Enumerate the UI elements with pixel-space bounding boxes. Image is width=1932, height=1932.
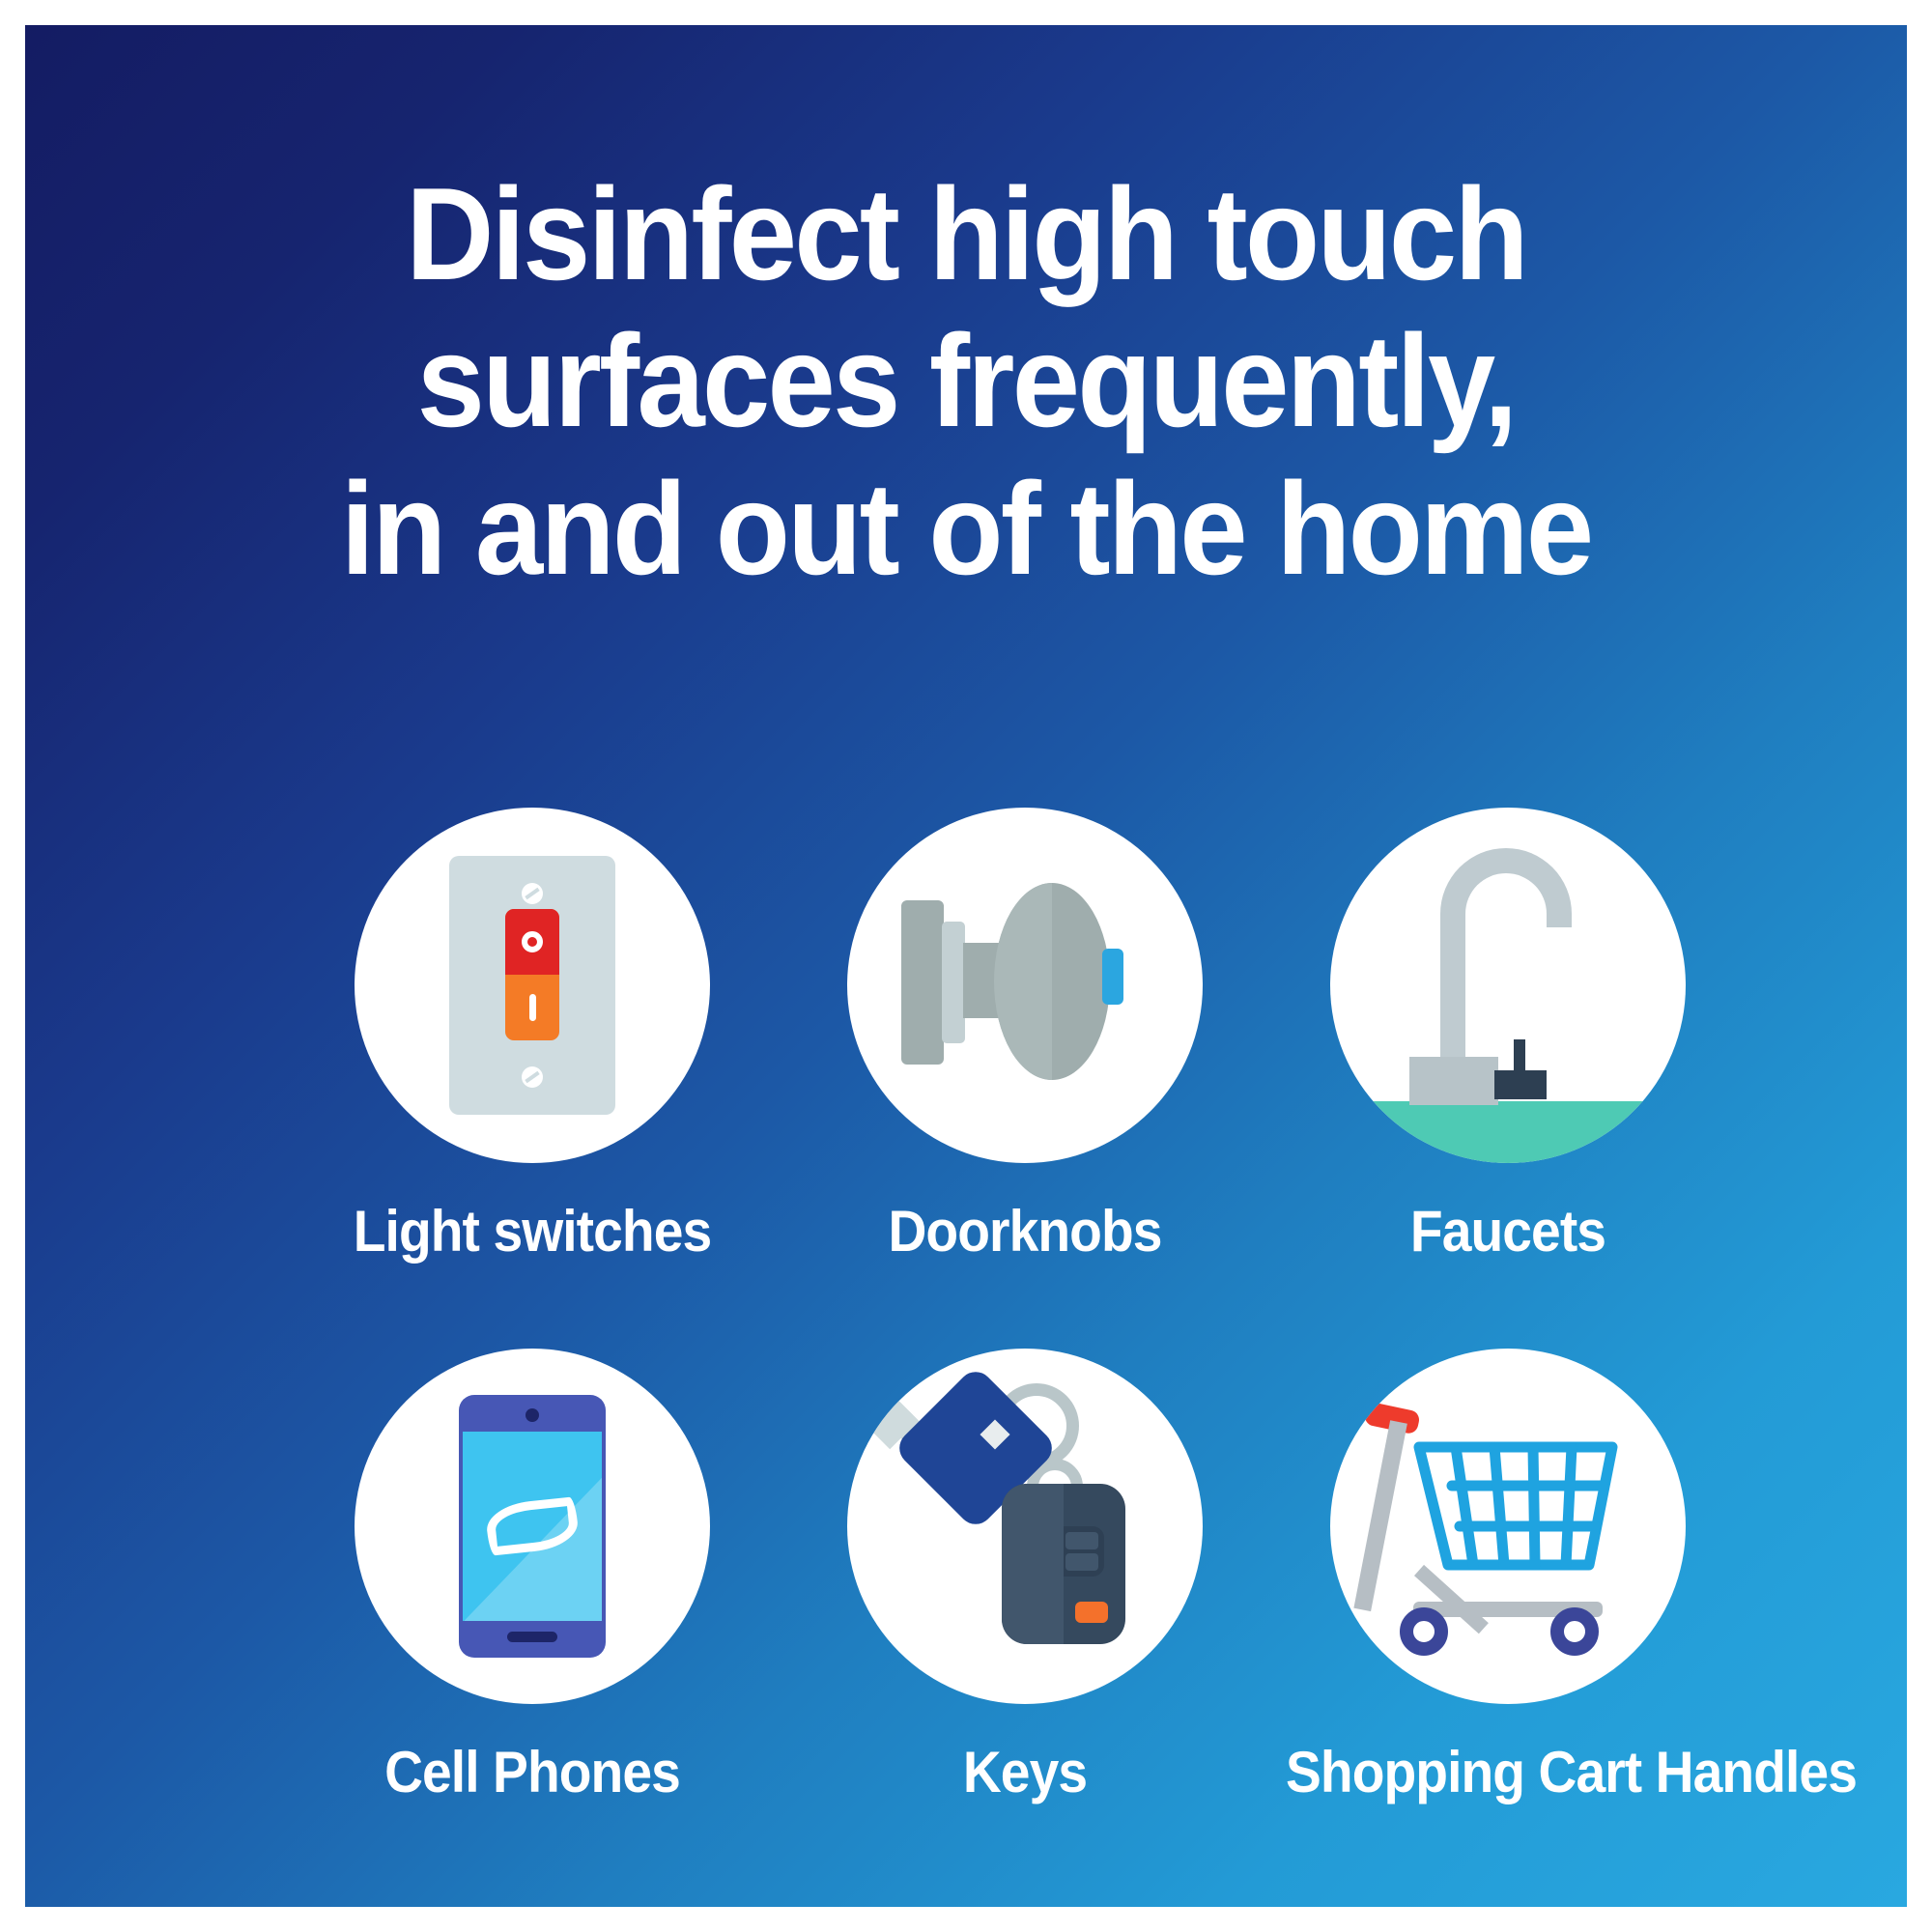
doorknob-icon [847, 808, 1203, 1163]
cart-wheel-rear [1550, 1607, 1599, 1656]
surface-label-shopping-cart-handles: Shopping Cart Handles [1286, 1739, 1730, 1805]
surface-item-shopping-cart-handles: Shopping Cart Handles [1266, 1349, 1749, 1805]
faucet-icon [1330, 808, 1686, 1163]
key-fob-button-3 [1027, 1553, 1060, 1571]
cell-phone-icon [355, 1349, 710, 1704]
phone-camera-dot [526, 1408, 539, 1422]
phone-home-button [507, 1632, 557, 1642]
surface-item-keys: Keys [783, 1349, 1266, 1805]
surface-label-cell-phones: Cell Phones [310, 1739, 754, 1805]
cart-wheel-front [1400, 1607, 1448, 1656]
poster-canvas: Disinfect high touch surfaces frequently… [25, 25, 1907, 1907]
faucet-spout [1440, 848, 1572, 927]
key-fob-panic-button [1075, 1602, 1108, 1623]
surface-item-faucets: Faucets [1266, 808, 1749, 1264]
surface-label-keys: Keys [803, 1739, 1247, 1805]
key-fob-button-4 [1065, 1553, 1098, 1571]
page-title: Disinfect high touch surfaces frequently… [91, 160, 1841, 602]
faucet-base [1409, 1057, 1498, 1105]
headline-line-3: in and out of the home [91, 455, 1841, 602]
phone-body [459, 1395, 606, 1658]
switch-power-on-symbol [529, 994, 536, 1021]
headline-line-2: surfaces frequently, [91, 307, 1841, 454]
key-fob-button-pad [1021, 1526, 1104, 1577]
doorknob-ball [994, 883, 1110, 1080]
doorknob-backplate [901, 900, 944, 1065]
surface-label-doorknobs: Doorknobs [803, 1198, 1247, 1264]
cart-basket [1413, 1439, 1624, 1573]
cart-handle-post [1353, 1420, 1406, 1611]
key-fob-button-2 [1065, 1532, 1098, 1549]
faucet-handle-bar [1494, 1070, 1547, 1099]
phone-screen [463, 1432, 602, 1621]
keys-icon [847, 1349, 1203, 1704]
switch-screw-bottom [522, 1066, 543, 1088]
key-fob-button-1 [1027, 1532, 1060, 1549]
light-switch-icon [355, 808, 710, 1163]
faucet-water-basin [1330, 1101, 1686, 1163]
surface-item-cell-phones: Cell Phones [291, 1349, 774, 1805]
switch-rocker [505, 909, 559, 1040]
doorknob-rosette [942, 922, 965, 1043]
surface-item-doorknobs: Doorknobs [783, 808, 1266, 1264]
shopping-cart-icon [1330, 1349, 1686, 1704]
headline-line-1: Disinfect high touch [91, 160, 1841, 307]
faucet-stem [1440, 922, 1465, 1059]
surface-label-faucets: Faucets [1286, 1198, 1730, 1264]
doorknob-accent [1102, 949, 1123, 1005]
switch-screw-top [522, 883, 543, 904]
switch-power-off-symbol [522, 931, 543, 952]
key-fob [1002, 1484, 1125, 1644]
surface-item-light-switches: Light switches [291, 808, 774, 1264]
surface-label-light-switches: Light switches [310, 1198, 754, 1264]
switch-plate [449, 856, 615, 1115]
